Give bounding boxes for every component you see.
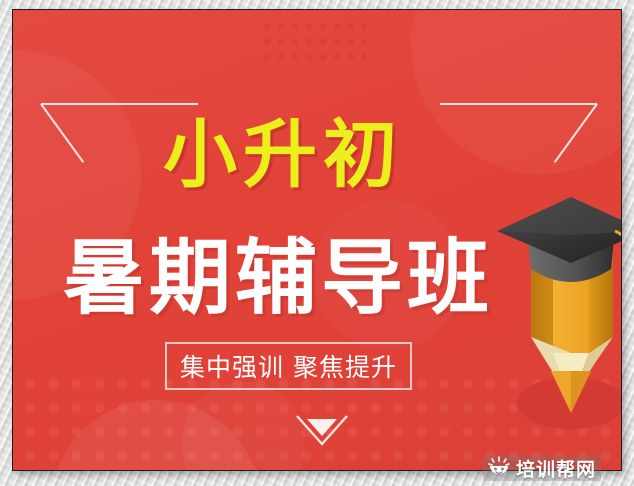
dot-grid-top bbox=[256, 15, 366, 63]
watermark-text: 培训帮网 bbox=[516, 455, 596, 482]
promo-banner: 小升初 暑期辅导班 集中强训 聚焦提升 bbox=[12, 9, 622, 471]
watermark: 培训帮网 bbox=[483, 455, 601, 481]
sun-smiley-icon bbox=[488, 456, 510, 481]
bracket-left-horizontal bbox=[41, 103, 198, 105]
poster-page: 小升初 暑期辅导班 集中强训 聚焦提升 bbox=[0, 0, 634, 486]
cap-board-highlight bbox=[497, 197, 622, 235]
subtitle-box: 集中强训 聚焦提升 bbox=[165, 342, 412, 390]
headline-primary: 小升初 bbox=[13, 118, 553, 192]
headline-secondary: 暑期辅导班 bbox=[13, 238, 543, 320]
subtitle-text: 集中强训 聚焦提升 bbox=[180, 348, 397, 384]
bracket-right-horizontal bbox=[440, 103, 597, 105]
chevron-down-icon bbox=[291, 414, 353, 448]
graduation-cap-pencil-illustration bbox=[493, 195, 622, 445]
